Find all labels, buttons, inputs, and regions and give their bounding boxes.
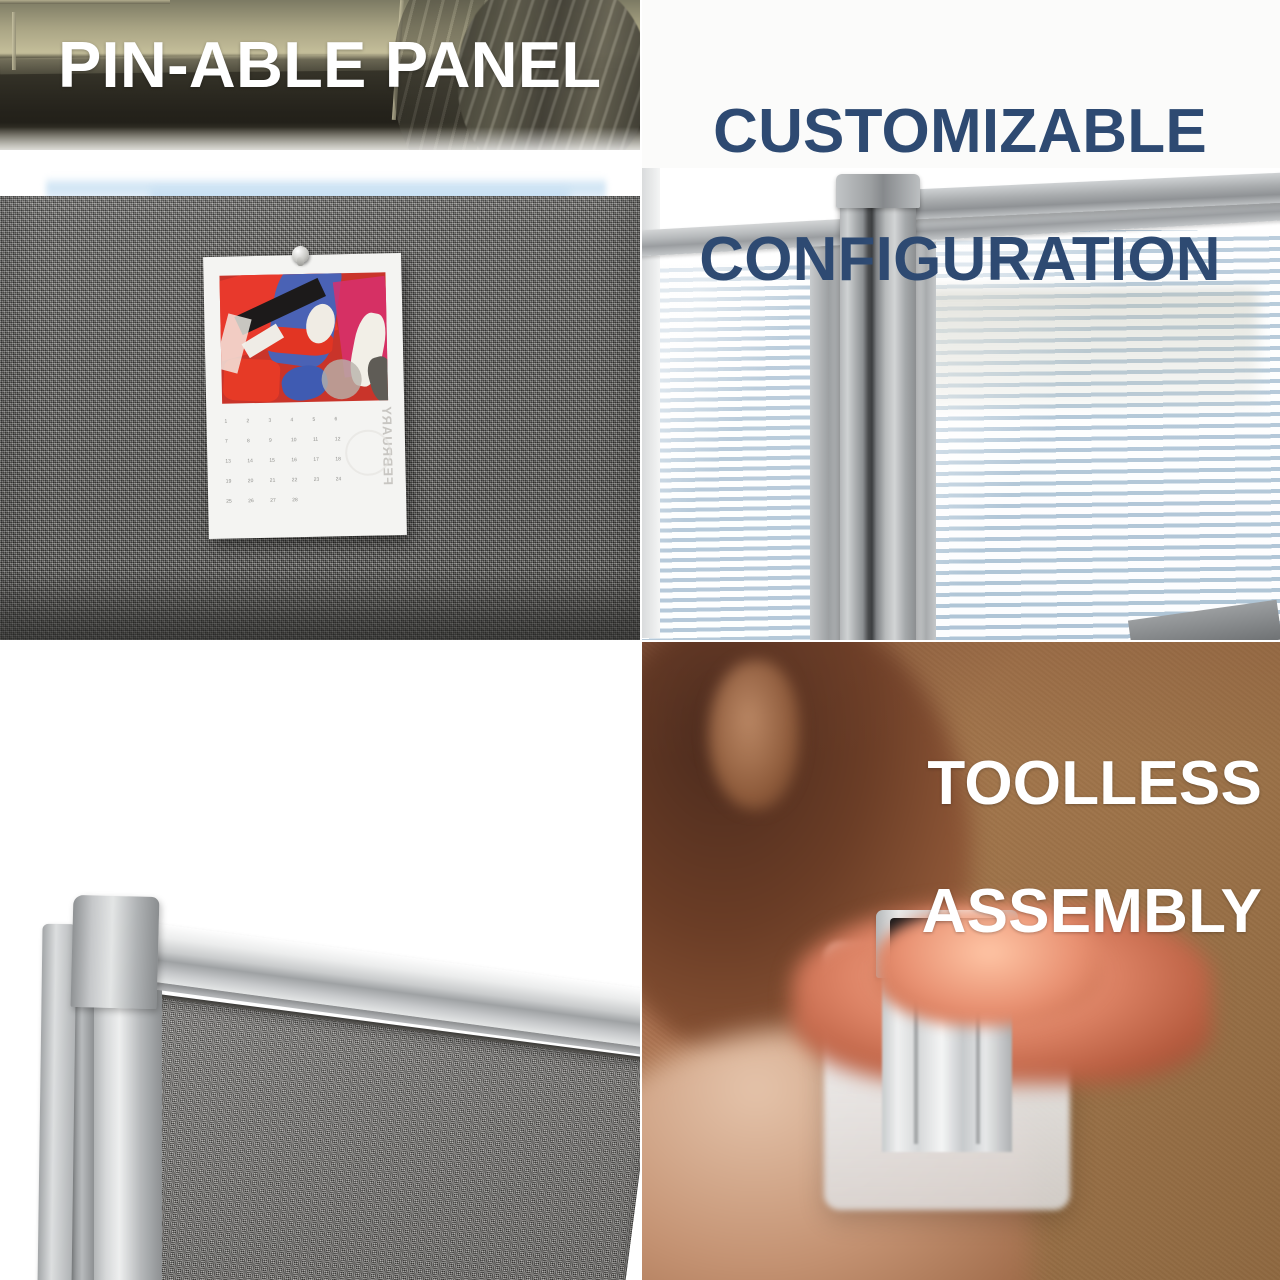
push-pin-icon <box>292 246 309 263</box>
heading-pin-able-panel: PIN-ABLE PANEL <box>58 32 638 99</box>
heading-line-1: CUSTOMIZABLE <box>713 97 1207 166</box>
heading-customizable-configuration: CUSTOMIZABLE CONFIGURATION <box>660 36 1260 291</box>
frame-post-front <box>86 990 162 1280</box>
calendar-date-grid: 12 34 56 78 910 1112 1314 1516 1718 1920… <box>224 416 358 523</box>
product-feature-collage: FEBRUARY 12 34 56 78 910 1112 1314 1516 … <box>0 0 1280 1280</box>
aluminum-frame-photo <box>0 878 640 1280</box>
heading-line-2: ASSEMBLY <box>922 877 1262 946</box>
fabric-bottom-shadow <box>0 570 640 640</box>
panel-top-glow <box>0 150 640 202</box>
ceiling-conduit <box>0 0 170 4</box>
ceiling-pipe <box>12 12 16 70</box>
panel-light-aircraft-aluminum-frame: LIGHT AIRCRAFT ALUMINUM FRAME <box>0 642 640 1280</box>
heading-line-1: TOOLLESS <box>927 749 1262 818</box>
panel-toolless-assembly: TOOLLESS ASSEMBLY <box>642 642 1280 1280</box>
frame-glass-edge <box>810 234 844 640</box>
panel-customizable-configuration: CUSTOMIZABLE CONFIGURATION <box>642 0 1280 640</box>
frame-mullion <box>916 242 936 640</box>
panel-divider-horizontal <box>0 640 1280 642</box>
heading-line-2: CONFIGURATION <box>699 225 1221 294</box>
panel-pin-able-panel: FEBRUARY 12 34 56 78 910 1112 1314 1516 … <box>0 0 640 640</box>
heading-toolless-assembly: TOOLLESS ASSEMBLY <box>702 688 1262 943</box>
calendar-artwork <box>219 272 388 403</box>
frame-corner-connector <box>71 895 160 1009</box>
pinned-calendar: FEBRUARY 12 34 56 78 910 1112 1314 1516 … <box>203 253 407 539</box>
